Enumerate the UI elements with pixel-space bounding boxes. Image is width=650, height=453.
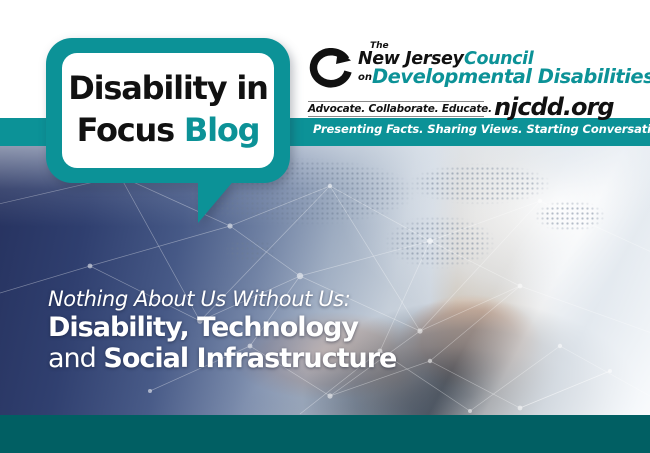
headline-line-2: and Social Infrastructure xyxy=(48,343,396,375)
circular-arrow-icon xyxy=(308,48,358,92)
njcdd-tagline: Advocate. Collaborate. Educate. xyxy=(308,101,484,117)
headline-kicker: Nothing About Us Without Us: xyxy=(48,288,396,312)
headline-line-2-bold: Social Infrastructure xyxy=(103,343,396,374)
njcdd-logo-bottom-row: Advocate. Collaborate. Educate. njcdd.or… xyxy=(308,95,638,121)
badge-blog-word: Blog xyxy=(184,111,259,149)
footer-teal-bar xyxy=(0,415,650,453)
njcdd-on: on xyxy=(358,73,372,83)
njcdd-url[interactable]: njcdd.org xyxy=(494,93,614,121)
blog-banner: Nothing About Us Without Us: Disability,… xyxy=(0,0,650,453)
badge-outer-frame: Disability in Focus Blog xyxy=(46,38,290,183)
badge-line-2: Focus Blog xyxy=(62,111,274,149)
njcdd-developmental-disabilities: Developmental Disabilities xyxy=(372,67,650,87)
headline-line-2-plain: and xyxy=(48,343,103,374)
badge-line-1: Disability in xyxy=(62,69,274,107)
njcdd-logo[interactable]: The New Jersey Council on Developmental … xyxy=(308,44,638,121)
hero-headline: Nothing About Us Without Us: Disability,… xyxy=(48,288,396,375)
badge-inner-panel: Disability in Focus Blog xyxy=(62,53,274,168)
njcdd-logo-top-row: The New Jersey Council on Developmental … xyxy=(308,44,638,92)
disability-in-focus-blog-badge[interactable]: Disability in Focus Blog xyxy=(46,38,290,183)
badge-focus-word: Focus xyxy=(77,111,184,149)
headline-line-1: Disability, Technology xyxy=(48,312,396,344)
tagline-text: Presenting Facts. Sharing Views. Startin… xyxy=(313,122,650,136)
speech-bubble-tail xyxy=(198,178,236,223)
